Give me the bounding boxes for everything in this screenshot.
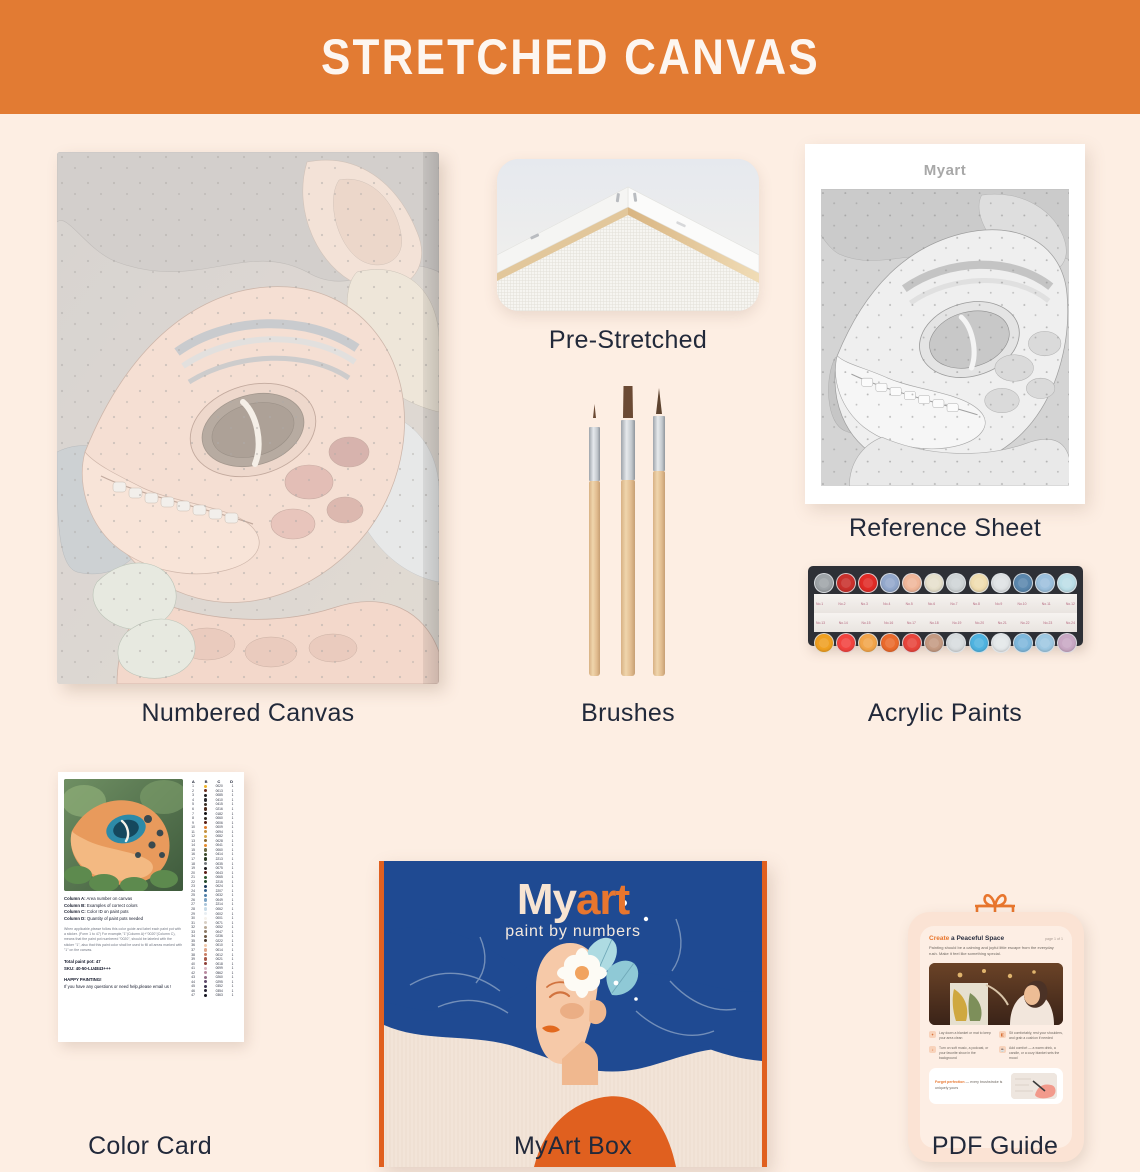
color-card-table: ABCD 10020120013130085140410150415160216… [187,779,238,1037]
area-number: 47 [187,993,199,997]
reference-sheet[interactable]: Myart [805,144,1085,504]
color-swatch-cell [199,885,211,888]
color-swatch [204,985,207,988]
paint-label-9: No.21 [998,621,1007,625]
paint-pot-12 [1057,573,1077,593]
paint-pot-5 [902,573,922,593]
brush-tip [653,388,665,416]
color-swatch [204,889,207,892]
color-swatch-cell [199,921,211,924]
reference-sheet-image [821,189,1069,486]
myart-box[interactable]: Myart paint by numbers [379,861,767,1167]
paint-pot-9 [991,633,1011,653]
paint-pot-2 [836,573,856,593]
color-swatch [204,957,207,960]
brush-handle [653,471,665,676]
color-swatch [204,912,207,915]
color-swatch-cell [199,930,211,933]
gecko-color-photo [64,779,183,891]
caption-myart-box: MyArt Box [420,1132,726,1161]
paint-pot-10 [1013,633,1033,653]
paint-pot-12 [1057,633,1077,653]
paint-label-1: No.1 [816,602,823,606]
color-swatch [204,871,207,874]
hand-painting-photo [1011,1073,1057,1099]
color-swatch [204,917,207,920]
color-swatch [204,798,207,801]
color-swatch-cell [199,803,211,806]
broom-icon: ✦ [929,1031,936,1038]
color-swatch-cell [199,967,211,970]
color-swatch-cell [199,957,211,960]
paint-label-8: No.20 [975,621,984,625]
color-swatch-cell [199,880,211,883]
brushes-group[interactable] [575,376,685,676]
color-swatch [204,994,207,997]
paint-label-strip-bottom: No.13No.14No.15No.16No.17No.18No.19No.20… [814,613,1077,632]
color-swatch-cell [199,898,211,901]
gecko-line-art-grayscale [821,189,1069,486]
color-swatch [204,817,207,820]
paint-pot-8 [969,573,989,593]
color-swatch [204,976,207,979]
woman-painting-photo [929,963,1063,1025]
caption-pre-stretched: Pre-Stretched [470,326,786,355]
paint-label-12: No.24 [1066,621,1075,625]
paint-pot-1 [814,633,834,653]
pdf-title-rest: a Peaceful Space [949,935,1004,942]
color-swatch [204,812,207,815]
color-swatch [204,926,207,929]
pdf-tip-text: Lay down a blanket or mat to keep your a… [939,1031,993,1041]
color-swatch-cell [199,789,211,792]
pdf-page-number: page 1 of 1 [1045,937,1063,941]
color-swatch [204,785,207,788]
brush-tip [589,404,600,427]
brand-tagline: paint by numbers [384,923,762,941]
color-swatch [204,848,207,851]
color-swatch [204,948,207,951]
paint-pot-2 [836,633,856,653]
canvas-frame [57,152,439,684]
color-swatch-cell [199,867,211,870]
sku-text: SKU: 40-50-LU4843+++ [64,966,183,973]
paint-label-5: No.5 [906,602,913,606]
reference-sheet-logo: Myart [924,162,967,179]
paint-label-2: No.2 [838,602,845,606]
color-swatch [204,953,207,956]
paint-label-5: No.17 [907,621,916,625]
paint-pot-5 [902,633,922,653]
color-swatch [204,967,207,970]
pdf-guide-page: Create a Peaceful Space page 1 of 1 Pain… [920,926,1072,1148]
color-swatch [204,867,207,870]
color-swatch [204,930,207,933]
color-card-footer: HAPPY PAINTING! If you have any question… [64,977,183,991]
caption-numbered-canvas: Numbered Canvas [57,699,439,728]
color-swatch [204,939,207,942]
pdf-guide-photo [929,963,1063,1025]
color-swatch-cell [199,871,211,874]
drink-icon: ☕ [999,1046,1006,1053]
acrylic-paints-tray[interactable]: No.1No.2No.3No.4No.5No.6No.7No.8No.9No.1… [808,566,1083,646]
color-swatch-cell [199,876,211,879]
color-swatch [204,944,207,947]
color-swatch-cell [199,894,211,897]
color-swatch-cell [199,785,211,788]
color-swatch [204,853,207,856]
brush-handle [589,481,600,676]
paint-label-7: No.7 [950,602,957,606]
paint-row-bottom [814,633,1077,653]
paint-label-7: No.19 [952,621,961,625]
color-card-table-body: 1002012001313008514041015041516021617018… [187,784,238,1037]
paint-label-1: No.13 [816,621,825,625]
music-icon: ♪ [929,1046,936,1053]
paint-pot-7 [946,633,966,653]
color-swatch [204,826,207,829]
myart-box-body: Myart paint by numbers [379,861,767,1167]
paint-label-9: No.9 [995,602,1002,606]
paint-pot-6 [924,573,944,593]
color-swatch-cell [199,812,211,815]
caption-acrylic-paints: Acrylic Paints [790,699,1100,728]
color-swatch [204,885,207,888]
pdf-guide[interactable]: Create a Peaceful Space page 1 of 1 Pain… [900,890,1090,1172]
color-swatch-cell [199,830,211,833]
color-swatch-cell [199,889,211,892]
color-swatch-cell [199,839,211,842]
pdf-tip-1: ✦Lay down a blanket or mat to keep your … [929,1031,993,1041]
color-swatch [204,980,207,983]
color-row: 4703631 [187,993,238,998]
paint-label-4: No.16 [884,621,893,625]
color-swatch-cell [199,948,211,951]
legend-line-1: Column A: Area number on canvas [64,896,183,903]
color-swatch-cell [199,903,211,906]
color-swatch-cell [199,939,211,942]
paint-pot-4 [880,633,900,653]
color-swatch [204,921,207,924]
pdf-tip-3: ♪Turn on soft music, a podcast, or your … [929,1046,993,1061]
legend-line-4: Column D: Quantity of paint pots needed [64,916,183,923]
pdf-title-highlight: Create [929,935,949,942]
color-card-paper: Column A: Area number on canvasColumn B:… [58,772,244,1042]
color-swatch [204,821,207,824]
paint-row-top [814,573,1077,593]
color-swatch [204,830,207,833]
paint-pot-6 [924,633,944,653]
paint-label-3: No.15 [861,621,870,625]
color-swatch-cell [199,953,211,956]
pot-quantity: 1 [227,993,238,997]
canvas-side-edge [423,152,439,684]
color-swatch [204,907,207,910]
paint-pot-1 [814,573,834,593]
paint-pot-9 [991,573,1011,593]
myart-brand: Myart paint by numbers [384,875,762,941]
color-swatch-cell [199,844,211,847]
page-title: STRETCHED CANVAS [321,28,820,86]
color-card-legend: Column A: Area number on canvasColumn B:… [64,896,183,923]
pdf-callout-image [1011,1073,1057,1099]
paint-label-6: No.6 [928,602,935,606]
color-swatch-cell [199,835,211,838]
color-swatch [204,894,207,897]
paint-label-11: No.11 [1042,602,1051,606]
color-swatch-cell [199,994,211,997]
color-swatch [204,835,207,838]
pre-stretched-photo-card[interactable] [497,159,759,311]
color-swatch [204,844,207,847]
color-swatch [204,789,207,792]
pdf-guide-subtitle: Painting should be a calming and joyful … [929,945,1063,957]
numbered-canvas[interactable] [57,152,439,684]
paint-label-10: No.22 [1020,621,1029,625]
pdf-callout-text: Forget perfection — every brushstroke is… [935,1080,1006,1091]
pdf-guide-title: Create a Peaceful Space [929,935,1004,942]
color-swatch [204,989,207,992]
color-swatch-cell [199,985,211,988]
color-swatch-cell [199,912,211,915]
color-swatch-cell [199,980,211,983]
paint-pot-8 [969,633,989,653]
color-swatch [204,839,207,842]
color-swatch-cell [199,821,211,824]
brand-my: My [517,875,576,924]
paint-label-3: No.3 [861,602,868,606]
color-card-fine-print: When applicable,please follow this color… [64,927,183,954]
color-swatch-cell [199,944,211,947]
color-swatch-cell [199,935,211,938]
brush-ferrule [589,427,600,481]
color-swatch-cell [199,826,211,829]
color-card-totals: Total paint pot: 47 SKU: 40-50-LU4843+++ [64,959,183,973]
total-paint-pot: Total paint pot: 47 [64,959,183,966]
brand-wordmark: Myart [384,875,762,925]
color-swatch [204,898,207,901]
paint-pot-11 [1035,573,1055,593]
product-grid: Numbered Canvas [0,114,1140,1140]
color-swatch-cell [199,989,211,992]
color-swatch-cell [199,807,211,810]
color-card-reference-photo [64,779,183,891]
brush-handle [621,480,635,676]
gecko-paint-by-numbers-art [57,152,439,684]
color-card-left-column: Column A: Area number on canvasColumn B:… [64,779,183,1037]
pdf-callout-bold: Forget perfection [935,1080,965,1084]
caption-brushes: Brushes [520,699,736,728]
paint-label-4: No.4 [883,602,890,606]
color-swatch-cell [199,907,211,910]
color-swatch [204,807,207,810]
color-swatch-cell [199,817,211,820]
color-swatch [204,857,207,860]
color-swatch-cell [199,926,211,929]
color-swatch-cell [199,853,211,856]
color-swatch [204,862,207,865]
brush-ferrule [653,416,665,471]
paint-label-11: No.23 [1043,621,1052,625]
pdf-tip-text: Turn on soft music, a podcast, or your f… [939,1046,993,1061]
color-swatch-cell [199,917,211,920]
brush-medium-round [653,388,665,676]
color-swatch-cell [199,798,211,801]
color-swatch-cell [199,848,211,851]
pdf-tip-text: Add comfort — a warm drink, a candle, or… [1009,1046,1063,1061]
paint-label-strip-top: No.1No.2No.3No.4No.5No.6No.7No.8No.9No.1… [814,594,1077,613]
color-swatch-cell [199,794,211,797]
page-header: STRETCHED CANVAS [0,0,1140,114]
color-swatch-cell [199,962,211,965]
color-swatch-cell [199,971,211,974]
paint-pot-4 [880,573,900,593]
canvas-corner-photo [497,159,759,311]
color-id: 0363 [211,993,227,997]
pdf-tip-2: ◧Sit comfortably, rest your shoulders, a… [999,1031,1063,1041]
happy-painting-text: HAPPY PAINTING! [64,977,183,984]
color-swatch [204,876,207,879]
reference-sheet-paper: Myart [805,144,1085,504]
paint-pot-7 [946,573,966,593]
color-swatch-cell [199,976,211,979]
pdf-tip-4: ☕Add comfort — a warm drink, a candle, o… [999,1046,1063,1061]
color-swatch [204,962,207,965]
chair-icon: ◧ [999,1031,1006,1038]
brush-thin-round [589,404,600,676]
color-swatch [204,794,207,797]
stretcher-bar-illustration [497,159,759,311]
brush-tip [621,386,635,420]
paint-tray: No.1No.2No.3No.4No.5No.6No.7No.8No.9No.1… [808,566,1083,646]
paint-label-8: No.8 [973,602,980,606]
paint-label-2: No.14 [839,621,848,625]
paint-label-10: No.10 [1018,602,1027,606]
color-card[interactable]: Column A: Area number on canvasColumn B:… [58,772,244,1042]
paint-label-6: No.18 [930,621,939,625]
caption-color-card: Color Card [40,1132,260,1161]
paint-label-12: No.12 [1066,602,1075,606]
pdf-guide-header: Create a Peaceful Space page 1 of 1 [929,935,1063,942]
color-swatch [204,880,207,883]
paint-pot-11 [1035,633,1055,653]
pdf-tip-text: Sit comfortably, rest your shoulders, an… [1009,1031,1063,1041]
legend-line-3: Column C: Color ID on paint pots [64,909,183,916]
paint-pot-3 [858,573,878,593]
color-swatch-cell [199,857,211,860]
paint-pot-10 [1013,573,1033,593]
brand-art: art [576,875,629,924]
pdf-guide-tips: ✦Lay down a blanket or mat to keep your … [929,1031,1063,1061]
legend-line-2: Column B: Examples of correct colors [64,903,183,910]
help-text: If you have any questions or need help,p… [64,984,183,991]
pdf-guide-callout: Forget perfection — every brushstroke is… [929,1068,1063,1104]
color-swatch [204,935,207,938]
paint-pot-3 [858,633,878,653]
caption-pdf-guide: PDF Guide [860,1132,1130,1161]
color-swatch [204,971,207,974]
color-swatch [204,903,207,906]
color-swatch-cell [199,862,211,865]
brush-ferrule [621,420,635,480]
pdf-guide-card: Create a Peaceful Space page 1 of 1 Pain… [908,912,1084,1162]
caption-reference-sheet: Reference Sheet [790,514,1100,543]
color-swatch [204,803,207,806]
brush-flat [621,386,635,676]
